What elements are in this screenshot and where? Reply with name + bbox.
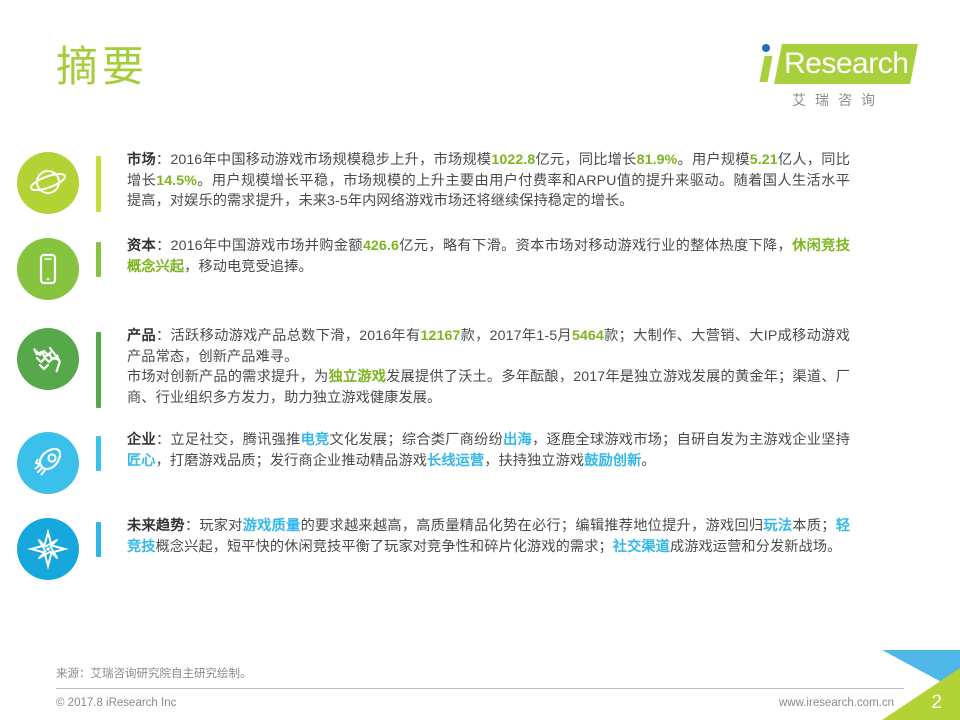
rocket-icon <box>17 432 79 494</box>
logo-brand-text: Research <box>784 47 908 81</box>
section-icon-wrap <box>0 150 96 214</box>
summary-sections: 市场：2016年中国移动游戏市场规模稳步上升，市场规模1022.8亿元，同比增长… <box>0 150 960 580</box>
footer-divider <box>56 688 904 689</box>
copyright-text: © 2017.8 iResearch Inc <box>56 697 176 709</box>
section-icon-wrap <box>0 430 96 494</box>
summary-section-enterprise: 企业：立足社交，腾讯强推电竞文化发展；综合类厂商纷纷出海，逐鹿全球游戏市场；自研… <box>0 430 960 494</box>
summary-section-market: 市场：2016年中国移动游戏市场规模稳步上升，市场规模1022.8亿元，同比增长… <box>0 150 960 214</box>
logo-mark: Research <box>756 42 916 86</box>
iresearch-logo: Research 艾瑞咨询 <box>756 42 916 114</box>
section-text-enterprise: 企业：立足社交，腾讯强推电竞文化发展；综合类厂商纷纷出海，逐鹿全球游戏市场；自研… <box>101 430 960 471</box>
section-text-product: 产品：活跃移动游戏产品总数下滑，2016年有12167款，2017年1-5月54… <box>101 326 960 408</box>
logo-i-stem <box>759 56 772 82</box>
logo-chinese-text: 艾瑞咨询 <box>792 90 884 110</box>
compass-star-icon <box>17 518 79 580</box>
section-icon-wrap <box>0 236 96 300</box>
slide-header: 摘要 Research 艾瑞咨询 <box>0 0 960 130</box>
website-url[interactable]: www.iresearch.com.cn <box>779 697 894 709</box>
summary-section-trend: 未来趋势：玩家对游戏质量的要求越来越高，高质量精品化势在必行；编辑推荐地位提升，… <box>0 516 960 580</box>
page-title: 摘要 <box>56 44 148 90</box>
section-icon-wrap <box>0 516 96 580</box>
smartphone-icon <box>17 238 79 300</box>
planet-icon <box>17 152 79 214</box>
declining-arrow-icon <box>17 328 79 390</box>
corner-decoration <box>882 650 960 720</box>
section-text-capital: 资本：2016年中国游戏市场并购金额426.6亿元，略有下滑。资本市场对移动游戏… <box>101 236 960 277</box>
logo-i-dot-icon <box>762 44 770 52</box>
summary-section-product: 产品：活跃移动游戏产品总数下滑，2016年有12167款，2017年1-5月54… <box>0 326 960 408</box>
section-text-market: 市场：2016年中国移动游戏市场规模稳步上升，市场规模1022.8亿元，同比增长… <box>101 150 960 212</box>
section-icon-wrap <box>0 326 96 390</box>
page-number: 2 <box>931 692 942 714</box>
corner-triangle-green <box>882 668 960 720</box>
summary-section-capital: 资本：2016年中国游戏市场并购金额426.6亿元，略有下滑。资本市场对移动游戏… <box>0 236 960 300</box>
source-note: 来源：艾瑞咨询研究院自主研究绘制。 <box>56 665 252 681</box>
section-text-trend: 未来趋势：玩家对游戏质量的要求越来越高，高质量精品化势在必行；编辑推荐地位提升，… <box>101 516 960 557</box>
